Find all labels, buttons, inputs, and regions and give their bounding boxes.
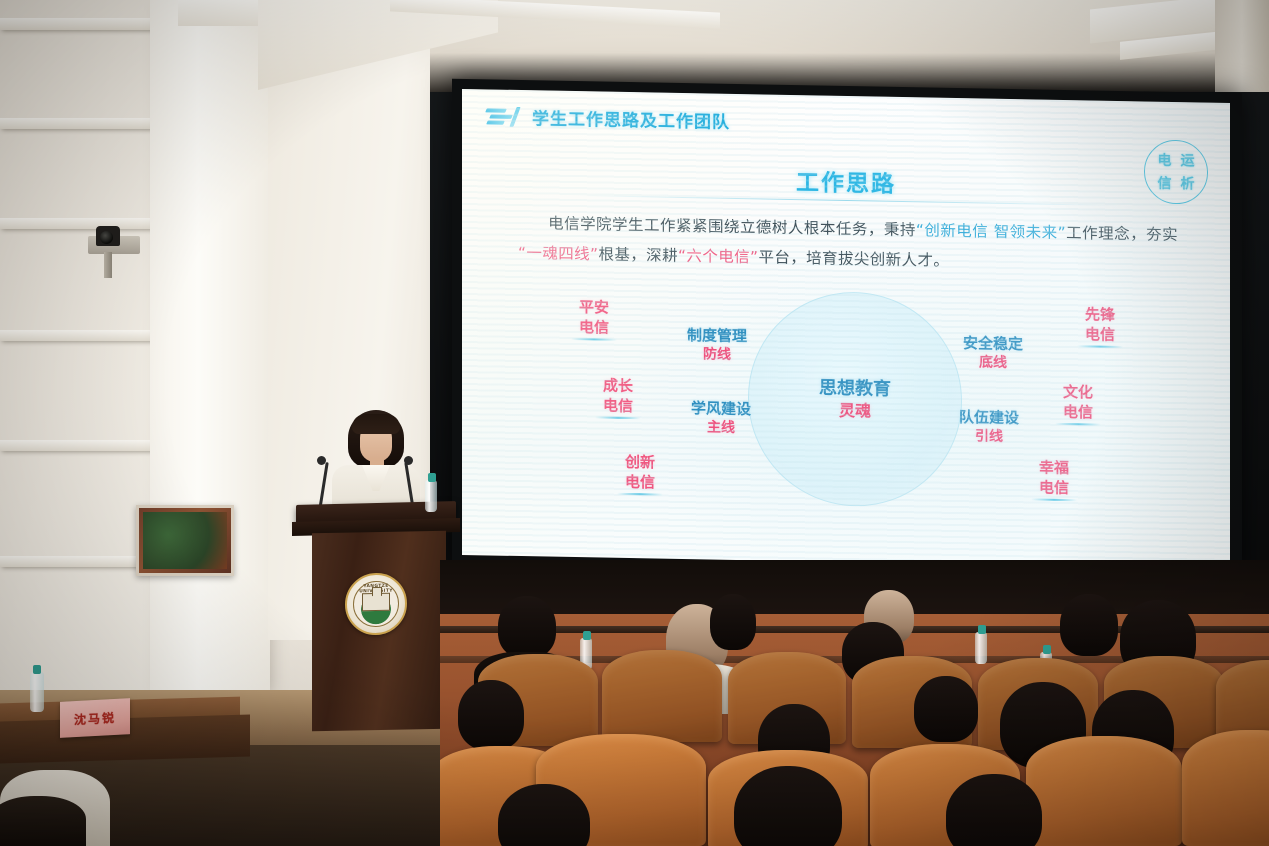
- wing-line-1: 平安: [558, 297, 630, 318]
- auditorium-seat: [602, 650, 722, 742]
- foreground-person-head: [0, 796, 86, 846]
- node-subtitle: 防线: [662, 345, 772, 366]
- name-card-text: 沈马锐: [74, 708, 116, 727]
- diagram-wing-right-1: 先锋 电信: [1064, 304, 1136, 348]
- audience-head: [458, 680, 524, 750]
- audience-head: [498, 596, 556, 658]
- audience-head: [710, 594, 756, 650]
- diagram-wing-left-3: 创新 电信: [604, 452, 676, 496]
- wing-underline: [1077, 345, 1123, 348]
- wing-line-2: 电信: [604, 472, 676, 493]
- wing-underline: [1031, 498, 1077, 501]
- auditorium-seat: [1026, 736, 1182, 846]
- wing-underline: [1055, 423, 1101, 426]
- wing-line-1: 创新: [604, 452, 676, 473]
- projected-slide: 学生工作思路及工作团队 电 运 信 析 工作思路 电信学院学生工作紧紧围绕立德树…: [462, 89, 1230, 569]
- seal-building-icon: [362, 593, 390, 612]
- diagram-wing-left-1: 平安 电信: [558, 297, 630, 341]
- strategy-diagram: 思想教育 灵魂 制度管理 防线 学风建设 主线 安全稳定 底线 队伍建设 引线: [462, 89, 1230, 569]
- wing-line-1: 幸福: [1018, 457, 1090, 478]
- water-bottle: [425, 480, 437, 512]
- presenter-fringe: [352, 414, 400, 434]
- diagram-node-inner-left-2: 学风建设 主线: [666, 399, 776, 439]
- wall-slat: [0, 440, 160, 451]
- audience-head: [914, 676, 978, 742]
- node-title: 安全稳定: [938, 334, 1048, 355]
- wall-slat: [0, 330, 168, 341]
- wing-line-2: 电信: [1042, 402, 1114, 423]
- wing-line-2: 电信: [1018, 477, 1090, 498]
- wall-slat: [0, 556, 152, 567]
- name-card: 沈马锐: [60, 698, 130, 738]
- water-bottle: [30, 672, 44, 712]
- wing-line-1: 成长: [582, 375, 654, 396]
- microphone-head-right: [404, 456, 413, 465]
- wing-line-2: 电信: [558, 317, 630, 338]
- audience-head: [734, 766, 842, 846]
- water-bottle: [975, 632, 987, 664]
- diagram-wing-right-2: 文化 电信: [1042, 382, 1114, 426]
- core-subtitle: 灵魂: [839, 400, 871, 420]
- wing-underline: [617, 493, 663, 496]
- wing-line-1: 文化: [1042, 382, 1114, 403]
- diagram-wing-left-2: 成长 电信: [582, 375, 654, 419]
- diagram-node-inner-left-1: 制度管理 防线: [662, 326, 772, 366]
- camera-arm: [104, 252, 112, 278]
- node-title: 制度管理: [662, 326, 772, 347]
- wall-picture: [136, 505, 234, 576]
- microphone-head-left: [317, 456, 326, 465]
- node-subtitle: 引线: [934, 427, 1044, 448]
- wing-line-1: 先锋: [1064, 304, 1136, 325]
- diagram-core-node: 思想教育 灵魂: [748, 290, 962, 508]
- audience-head: [946, 774, 1042, 846]
- diagram-node-inner-right-1: 安全稳定 底线: [938, 334, 1048, 374]
- wing-underline: [571, 338, 617, 341]
- node-subtitle: 主线: [666, 418, 776, 439]
- auditorium-seat: [1182, 730, 1269, 846]
- diagram-wing-right-3: 幸福 电信: [1018, 457, 1090, 501]
- diagram-node-inner-right-2: 队伍建设 引线: [934, 408, 1044, 448]
- wing-line-2: 电信: [582, 395, 654, 416]
- camera-lens-icon: [100, 231, 113, 244]
- audience-area: [440, 560, 1269, 846]
- audience-head: [1060, 594, 1118, 656]
- node-title: 学风建设: [666, 399, 776, 420]
- node-subtitle: 底线: [938, 353, 1048, 374]
- wall-column: [150, 0, 270, 700]
- wall-slat: [0, 218, 175, 229]
- wing-underline: [595, 416, 641, 419]
- core-title: 思想教育: [819, 378, 891, 398]
- conference-photo: 学生工作思路及工作团队 电 运 信 析 工作思路 电信学院学生工作紧紧围绕立德树…: [0, 0, 1269, 846]
- node-title: 队伍建设: [934, 408, 1044, 429]
- wing-line-2: 电信: [1064, 324, 1136, 345]
